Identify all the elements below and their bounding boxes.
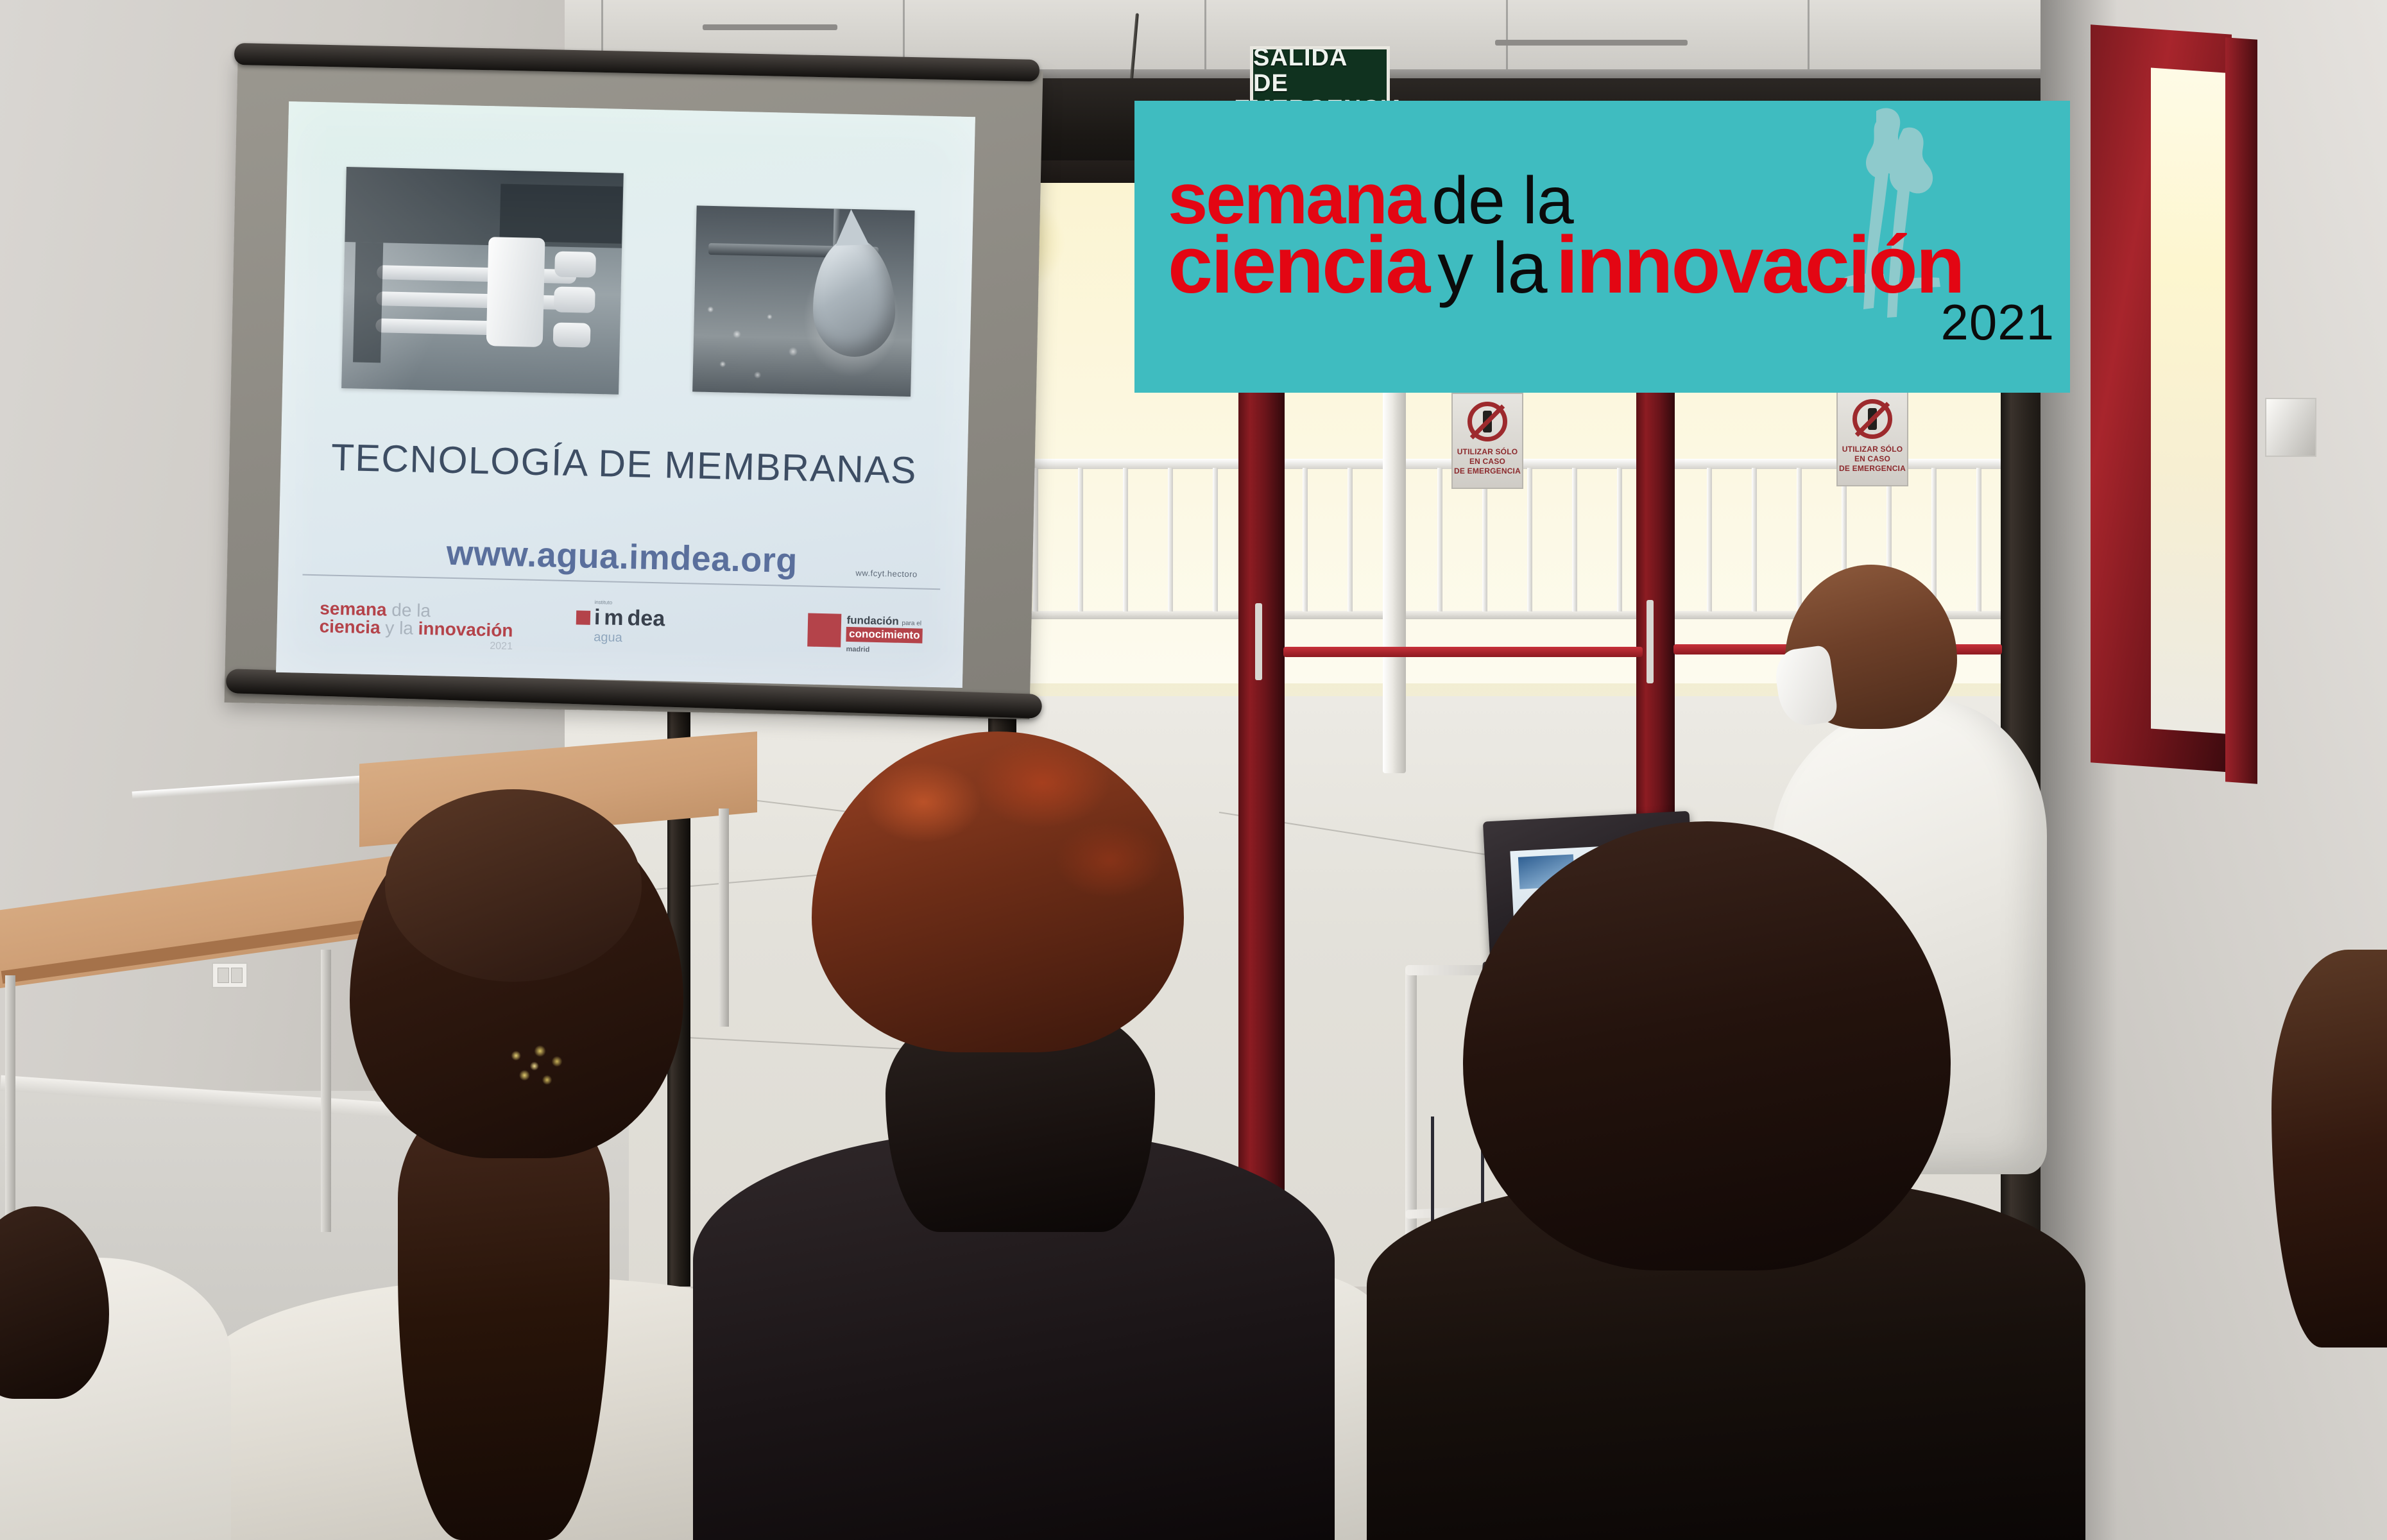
slide-photo-row (282, 101, 975, 402)
imdea-letter-m: m (604, 605, 624, 631)
banner-ciencia: ciencia (1168, 224, 1428, 307)
ceiling-light-slot (1495, 40, 1688, 46)
imdea-square-icon (576, 610, 590, 624)
red-window-mullion (2225, 37, 2257, 783)
semana-ciencia-banner: semana de la ciencia y la innovación 202… (1134, 101, 2070, 393)
no-pedestrian-icon (1852, 399, 1892, 439)
banner-innovacion: innovación (1556, 224, 1964, 307)
placard-line-1: UTILIZAR SÓLO (1454, 447, 1521, 457)
banner-yla: y la (1437, 232, 1546, 305)
audience-member-hair (2271, 950, 2387, 1347)
fundacion-parael: para el (902, 620, 921, 628)
seminar-room-photo: UTILIZAR SÓLO EN CASO DE EMERGENCIA UTIL… (0, 0, 2387, 1540)
fundacion-word: fundación (846, 614, 899, 628)
fundacion-city: madrid (846, 646, 869, 654)
table-leg (719, 809, 729, 1027)
placard-line-3: DE EMERGENCIA (1839, 464, 1906, 474)
audience-member-ponytail (398, 1091, 610, 1540)
placard-line-3: DE EMERGENCIA (1454, 466, 1521, 476)
membrane-plant-photo (341, 167, 624, 395)
ciencia-word: ciencia (319, 616, 381, 637)
water-droplet-photo (692, 205, 914, 397)
audience-member-updo (385, 789, 642, 982)
table-leg (5, 975, 15, 1245)
slide-footer: semana de la ciencia y la innovación 202… (301, 574, 941, 671)
placard-line-1: UTILIZAR SÓLO (1839, 445, 1906, 454)
banner-wordmark: semana de la ciencia y la innovación (1168, 162, 2021, 307)
dela-word: de la (391, 599, 431, 620)
semana-logo-footer: semana de la ciencia y la innovación 202… (319, 599, 514, 652)
imdea-subtitle: agua (594, 630, 622, 646)
slide-title: TECNOLOGÍA DE MEMBRANAS (280, 434, 968, 493)
emergency-use-placard: UTILIZAR SÓLO EN CASO DE EMERGENCIA (1836, 390, 1908, 486)
imdea-logo-footer: instituto i m dea agua (576, 599, 665, 646)
fundacion-mark-icon (808, 613, 842, 647)
innovacion-word: innovación (418, 619, 513, 640)
placard-line-2: EN CASO (1454, 457, 1521, 466)
table-leg (321, 950, 331, 1232)
wall-switch[interactable] (2265, 398, 2316, 457)
ceiling-light-slot (703, 24, 837, 30)
imdea-word-dea: dea (627, 606, 665, 631)
banner-dela: de la (1432, 167, 1573, 235)
conocimiento-word: conocimiento (846, 627, 923, 643)
yla-word: y la (385, 618, 413, 638)
wall-socket[interactable] (212, 963, 248, 988)
emergency-push-bar[interactable] (1283, 647, 1643, 657)
door-handle[interactable] (1647, 600, 1654, 683)
emergency-use-placard: UTILIZAR SÓLO EN CASO DE EMERGENCIA (1451, 393, 1523, 489)
slide-stamp: ww.fcyt.hectoro (855, 568, 918, 579)
imdea-letter-i: i (594, 605, 601, 630)
exit-sign-line-1: SALIDA DE (1253, 46, 1387, 97)
no-pedestrian-icon (1467, 402, 1507, 441)
projected-slide: TECNOLOGÍA DE MEMBRANAS www.agua.imdea.o… (276, 101, 975, 688)
banner-year: 2021 (1940, 293, 2055, 352)
door-handle[interactable] (1255, 603, 1262, 680)
gold-hair-clip (501, 1039, 571, 1097)
window-glass (2151, 67, 2234, 734)
fundacion-logo-footer: fundación para el conocimiento madrid (807, 613, 923, 656)
placard-line-2: EN CASO (1839, 454, 1906, 464)
